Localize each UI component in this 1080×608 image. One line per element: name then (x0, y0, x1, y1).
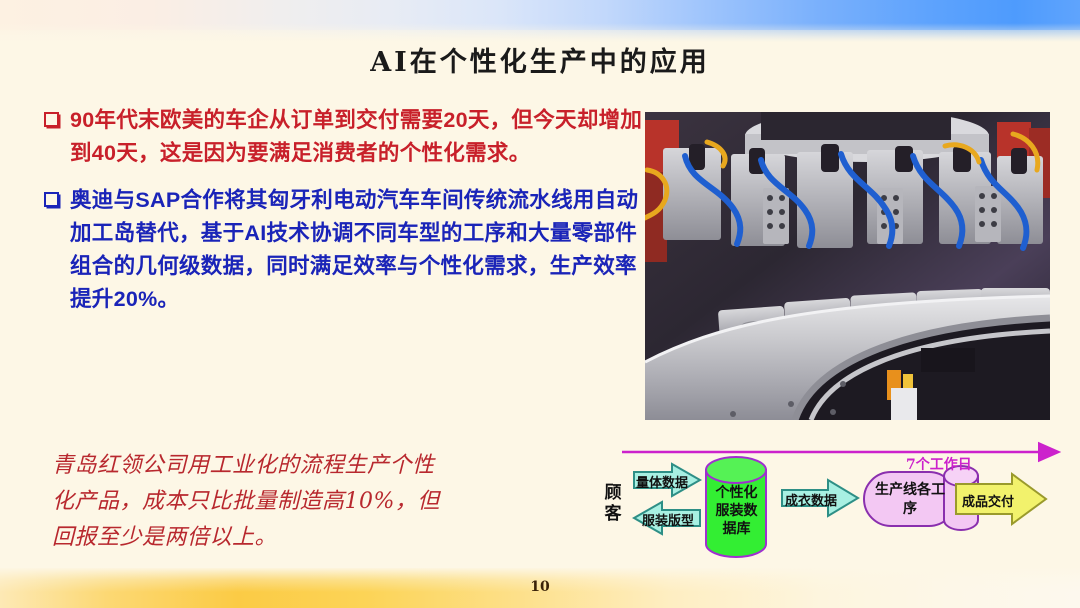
presentation-slide: AI在个性化生产中的应用 90年代末欧美的车企从订单到交付需要20天，但今天却增… (0, 0, 1080, 608)
bullet-list: 90年代末欧美的车企从订单到交付需要20天，但今天却增加到40天，这是因为要满足… (44, 104, 644, 330)
bullet-item-2-text: 奥迪与SAP合作将其匈牙利电动汽车车间传统流水线用自动加工岛替代，基于AI技术协… (70, 184, 644, 316)
assembly-line-photo (645, 112, 1050, 420)
page-number: 10 (0, 579, 1080, 595)
bullet-item-2: 奥迪与SAP合作将其匈牙利电动汽车车间传统流水线用自动加工岛替代，基于AI技术协… (44, 184, 644, 316)
bullet-item-1: 90年代末欧美的车企从订单到交付需要20天，但今天却增加到40天，这是因为要满足… (44, 104, 644, 170)
slide-title: AI在个性化生产中的应用 (0, 40, 1080, 79)
hollow-square-bullet-icon (44, 112, 59, 127)
hollow-square-bullet-icon (44, 192, 59, 207)
bullet-item-1-text: 90年代末欧美的车企从订单到交付需要20天，但今天却增加到40天，这是因为要满足… (70, 104, 644, 170)
case-study-note: 青岛红领公司用工业化的流程生产个性化产品，成本只比批量制造高10%，但回报至少是… (52, 448, 452, 556)
customization-flow-diagram: 7个工作日 顾客 量体数据 服装版型 个性化服装数据库 成衣数据 生产线各工序 … (600, 436, 1080, 564)
